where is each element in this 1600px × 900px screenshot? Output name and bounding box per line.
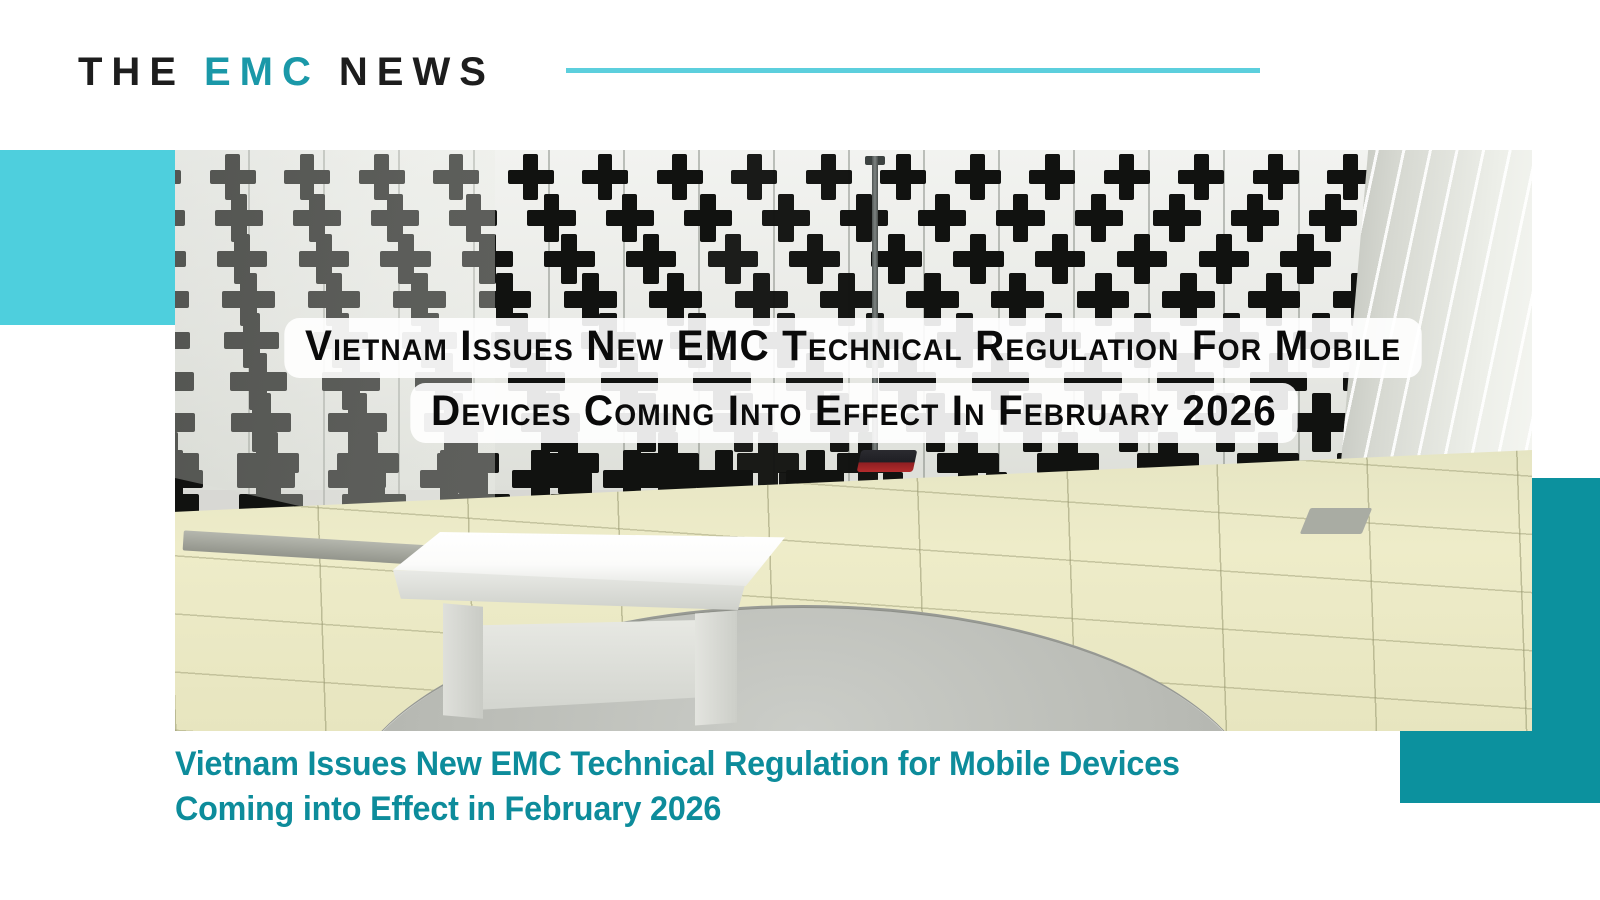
antenna-mast-pole	[872, 156, 878, 456]
article-hero-image: Vietnam Issues New EMC Technical Regulat…	[175, 150, 1532, 731]
test-table-leg-left	[443, 603, 483, 718]
masthead-rule	[566, 68, 1260, 73]
decor-block-left-cyan	[0, 150, 176, 325]
masthead-brand: THE EMC NEWS	[78, 44, 495, 100]
floor-access-plate	[1300, 508, 1373, 534]
news-card: THE EMC NEWS	[0, 0, 1600, 900]
test-table-leg-right	[695, 611, 737, 726]
device-under-test	[857, 450, 918, 472]
article-headline-caption[interactable]: Vietnam Issues New EMC Technical Regulat…	[175, 742, 1239, 832]
brand-word-news: NEWS	[339, 52, 495, 92]
brand-word-the: THE	[78, 52, 185, 92]
test-table-brace	[475, 620, 700, 710]
brand-word-emc: EMC	[204, 52, 320, 92]
